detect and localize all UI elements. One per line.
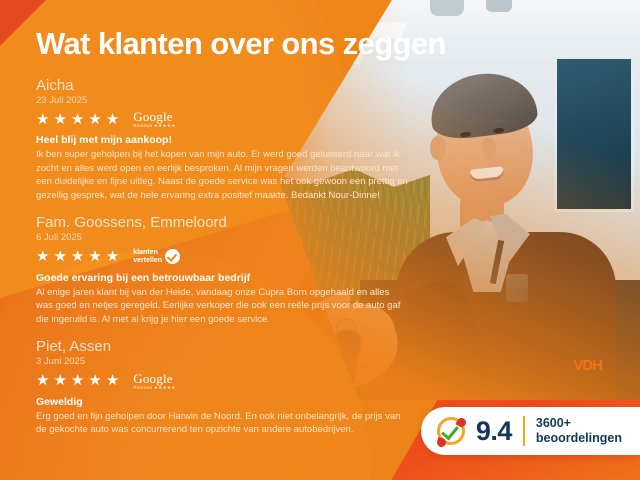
review-author: Aicha (36, 77, 436, 94)
content-column: Wat klanten over ons zeggen Aicha 23 Jul… (36, 28, 436, 449)
star-icon: ★ (53, 249, 66, 264)
review-title: Goede ervaring bij een betrouwbaar bedri… (36, 272, 436, 284)
review-body: Ik ben super geholpen bij het kopen van … (36, 148, 408, 202)
klantenvertellen-wordmark: klanten vertellen (133, 249, 162, 264)
star-icon: ★ (106, 112, 119, 127)
review-body: Erg goed en fijn geholpen door Harwin de… (36, 410, 408, 437)
checkmark-icon (165, 249, 180, 264)
overall-rating-badge: 9.4 3600+ beoordelingen (421, 407, 640, 455)
google-reviews-sublabel: Reviews ★★★★★ (133, 386, 175, 391)
star-icon: ★ (88, 112, 101, 127)
klantenvertellen-line2: vertellen (133, 257, 162, 264)
star-icon: ★ (106, 373, 119, 388)
review-card: Aicha 23 Juli 2025 ★ ★ ★ ★ ★ Google Revi… (36, 77, 436, 203)
photo-brand-logo: VDH (573, 357, 602, 374)
photo-ceiling-fixture-2 (486, 0, 512, 12)
promo-banner: VDH Wat klanten over ons zeggen Aicha 23… (0, 0, 640, 480)
star-rating: ★ ★ ★ ★ ★ (36, 112, 119, 127)
review-date: 23 Juli 2025 (36, 95, 436, 106)
review-date: 3 Juni 2025 (36, 356, 436, 367)
review-meta: ★ ★ ★ ★ ★ Google Reviews ★★★★★ (36, 109, 436, 129)
star-rating: ★ ★ ★ ★ ★ (36, 373, 119, 388)
kiyoh-leaf-bottom (436, 437, 447, 448)
star-icon: ★ (53, 112, 66, 127)
star-icon: ★ (88, 249, 101, 264)
klantenvertellen-logo: klanten vertellen (133, 249, 180, 264)
star-rating: ★ ★ ★ ★ ★ (36, 249, 119, 264)
rating-label: beoordelingen (536, 431, 622, 446)
star-icon: ★ (88, 373, 101, 388)
klantenvertellen-line1: klanten (133, 249, 162, 256)
page-title: Wat klanten over ons zeggen (36, 28, 436, 61)
review-card: Fam. Goossens, Emmeloord 6 Juli 2025 ★ ★… (36, 214, 436, 326)
star-icon: ★ (71, 112, 84, 127)
star-icon: ★ (53, 373, 66, 388)
photo-ceiling-fixture (430, 0, 464, 16)
review-date: 6 Juli 2025 (36, 232, 436, 243)
google-reviews-logo: Google Reviews ★★★★★ (133, 372, 175, 391)
star-icon: ★ (36, 373, 49, 388)
photo-person-id-badge (506, 274, 528, 302)
review-meta: ★ ★ ★ ★ ★ Google Reviews ★★★★★ (36, 371, 436, 391)
rating-count: 3600+ (536, 416, 622, 431)
review-title: Geweldig (36, 396, 436, 408)
google-wordmark: Google (133, 372, 175, 385)
rating-text: 3600+ beoordelingen (536, 416, 622, 446)
review-card: Piet, Assen 3 Juni 2025 ★ ★ ★ ★ ★ Google… (36, 338, 436, 437)
review-author: Fam. Goossens, Emmeloord (36, 214, 436, 231)
google-wordmark: Google (133, 110, 175, 123)
review-meta: ★ ★ ★ ★ ★ klanten vertellen (36, 247, 436, 267)
star-icon: ★ (71, 249, 84, 264)
review-author: Piet, Assen (36, 338, 436, 355)
star-icon: ★ (36, 249, 49, 264)
google-reviews-sublabel: Reviews ★★★★★ (133, 124, 175, 129)
rating-divider (523, 416, 525, 446)
review-body: Al enige jaren klant bij van der Heide, … (36, 286, 408, 326)
kiyoh-check-icon (437, 417, 465, 445)
review-title: Heel blij met mijn aankoop! (36, 134, 436, 146)
star-icon: ★ (71, 373, 84, 388)
rating-score: 9.4 (476, 418, 512, 445)
google-reviews-logo: Google Reviews ★★★★★ (133, 110, 175, 129)
star-icon: ★ (36, 112, 49, 127)
star-icon: ★ (106, 249, 119, 264)
